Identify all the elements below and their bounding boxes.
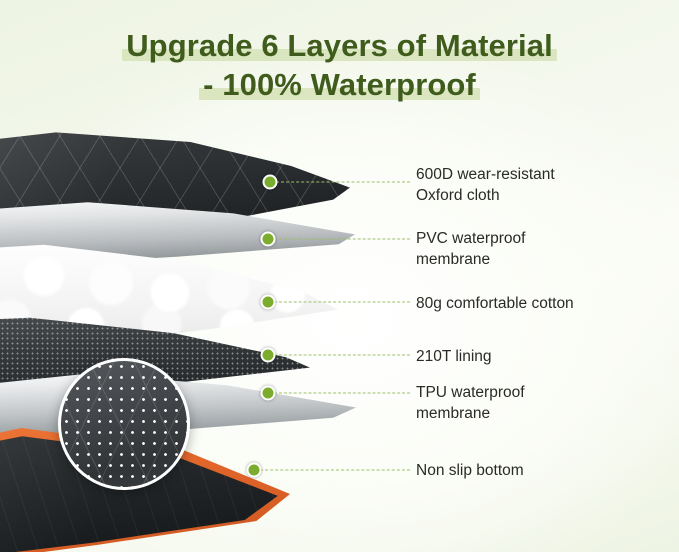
infographic-canvas: Upgrade 6 Layers of Material - 100% Wate… xyxy=(0,0,679,552)
layer-label-lining: 210T lining xyxy=(416,347,492,368)
layer-label-oxford: 600D wear-resistant Oxford cloth xyxy=(416,165,555,207)
layer-label-tpu: TPU waterproof membrane xyxy=(416,383,525,425)
page-title: Upgrade 6 Layers of Material - 100% Wate… xyxy=(0,30,679,102)
magnifier-icon xyxy=(58,358,190,490)
layer-label-cotton: 80g comfortable cotton xyxy=(416,294,574,315)
layer-label-bottom: Non slip bottom xyxy=(416,461,524,482)
title-line-1: Upgrade 6 Layers of Material xyxy=(0,30,679,63)
title-line-2: - 100% Waterproof xyxy=(0,69,679,102)
material-layer-stack xyxy=(0,120,400,550)
layer-label-pvc: PVC waterproof membrane xyxy=(416,229,525,271)
